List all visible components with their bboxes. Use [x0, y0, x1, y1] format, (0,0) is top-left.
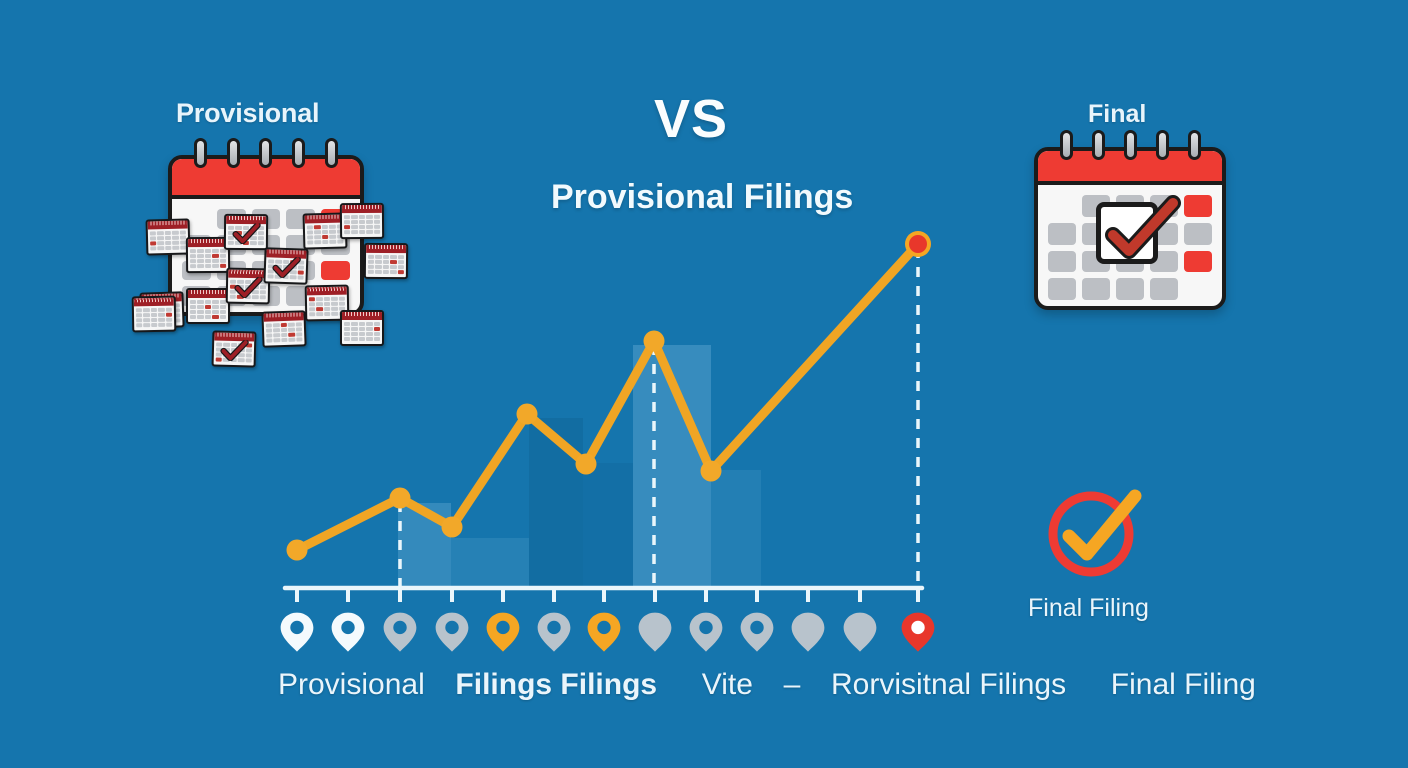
checkbox-checked-icon	[1096, 202, 1158, 264]
milestone-pin	[639, 613, 672, 652]
mini-calendar-grid	[188, 298, 228, 321]
chart-data-point	[517, 404, 538, 425]
pin-hole	[496, 621, 509, 634]
pin-hole	[699, 621, 712, 634]
calendar-cell	[1184, 195, 1212, 217]
mini-calendar-header	[188, 290, 228, 298]
calendar-cell	[1184, 223, 1212, 245]
calendar-cell	[1150, 278, 1178, 300]
bottom-label-part1: Provisional	[278, 668, 425, 701]
mini-calendar-icon	[132, 296, 177, 333]
calendar-ring-icon	[1124, 130, 1137, 160]
calendar-ring-icon	[1188, 130, 1201, 160]
milestone-pin	[741, 613, 774, 652]
pin-hole	[750, 621, 763, 634]
milestone-pin	[690, 613, 723, 652]
mini-calendar-header	[188, 239, 228, 247]
pin-hole	[341, 621, 354, 634]
calendar-ring-icon	[1092, 130, 1105, 160]
calendar-ring-icon	[1060, 130, 1073, 160]
calendar-cell	[1048, 278, 1076, 300]
infographic-canvas: Provisional VS Provisional Filings Final	[0, 0, 1408, 768]
mini-calendar-grid	[148, 228, 189, 252]
filings-line-chart	[250, 215, 970, 625]
calendar-cell	[1082, 278, 1110, 300]
milestone-pin	[332, 613, 365, 652]
milestone-pin	[487, 613, 520, 652]
pin-hole	[393, 621, 406, 634]
milestone-pin	[902, 613, 935, 652]
final-calendar-label: Final	[1088, 100, 1146, 129]
chart-data-point	[442, 517, 463, 538]
calendar-cell	[1184, 251, 1212, 273]
milestone-pin	[792, 613, 825, 652]
mini-calendar-header	[148, 220, 188, 229]
chart-milestone-pins	[281, 613, 935, 652]
pin-hole	[445, 621, 458, 634]
final-filing-badge	[1043, 482, 1143, 582]
chart-data-point	[701, 461, 722, 482]
calendar-cell	[1184, 278, 1212, 300]
milestone-pin	[281, 613, 314, 652]
chart-data-point	[644, 331, 665, 352]
check-mark-icon	[218, 340, 249, 362]
chart-subtitle: Provisional Filings	[551, 178, 853, 217]
calendar-rings	[168, 138, 364, 168]
chart-final-marker-core	[909, 235, 927, 253]
mini-calendar-grid	[134, 306, 174, 330]
calendar-cell	[1048, 251, 1076, 273]
pin-hole	[547, 621, 560, 634]
chart-bar	[451, 538, 529, 588]
pin-hole	[290, 621, 303, 634]
milestone-pin	[844, 613, 877, 652]
final-filing-label: Final Filing	[1028, 594, 1149, 623]
bottom-label-part5: Rorvisitnal Filings	[831, 668, 1066, 701]
calendar-ring-icon	[1156, 130, 1169, 160]
milestone-pin	[384, 613, 417, 652]
chart-bar	[711, 470, 761, 588]
pin-hole	[597, 621, 610, 634]
milestone-pin	[538, 613, 571, 652]
calendar-cell	[1116, 278, 1144, 300]
pin-hole	[911, 621, 924, 634]
bottom-label-part2: Filings Filings	[455, 668, 657, 701]
mini-calendar-icon	[186, 288, 230, 324]
mini-calendar-header	[342, 205, 382, 213]
chart-data-point	[576, 454, 597, 475]
calendar-cell	[1048, 223, 1076, 245]
pin-icon	[792, 613, 825, 652]
mini-calendar-header	[134, 298, 174, 307]
bottom-legend-text: Provisional Filings Filings Vite – Rorvi…	[278, 668, 1256, 702]
calendar-ring-icon	[259, 138, 272, 168]
milestone-pin	[588, 613, 621, 652]
calendar-cell	[1048, 195, 1076, 217]
calendar-rings	[1034, 130, 1226, 160]
pin-icon	[639, 613, 672, 652]
bottom-label-part3: Vite	[702, 668, 753, 701]
chart-data-point	[390, 488, 411, 509]
final-calendar-graphic	[1034, 130, 1226, 310]
calendar-ring-icon	[292, 138, 305, 168]
milestone-pin	[436, 613, 469, 652]
chart-svg	[250, 215, 970, 625]
calendar-ring-icon	[325, 138, 338, 168]
calendar-ring-icon	[194, 138, 207, 168]
check-circle-icon	[1043, 482, 1143, 582]
calendar-ring-icon	[227, 138, 240, 168]
bottom-label-part6: Final Filing	[1111, 668, 1256, 701]
chart-data-point	[287, 540, 308, 561]
pin-icon	[844, 613, 877, 652]
chart-bar	[583, 463, 633, 588]
bottom-label-part4: –	[784, 668, 801, 701]
mini-calendar-icon	[146, 218, 191, 255]
vs-heading: VS	[654, 88, 728, 150]
chart-x-axis	[285, 588, 922, 602]
mini-calendar-grid	[188, 247, 228, 270]
